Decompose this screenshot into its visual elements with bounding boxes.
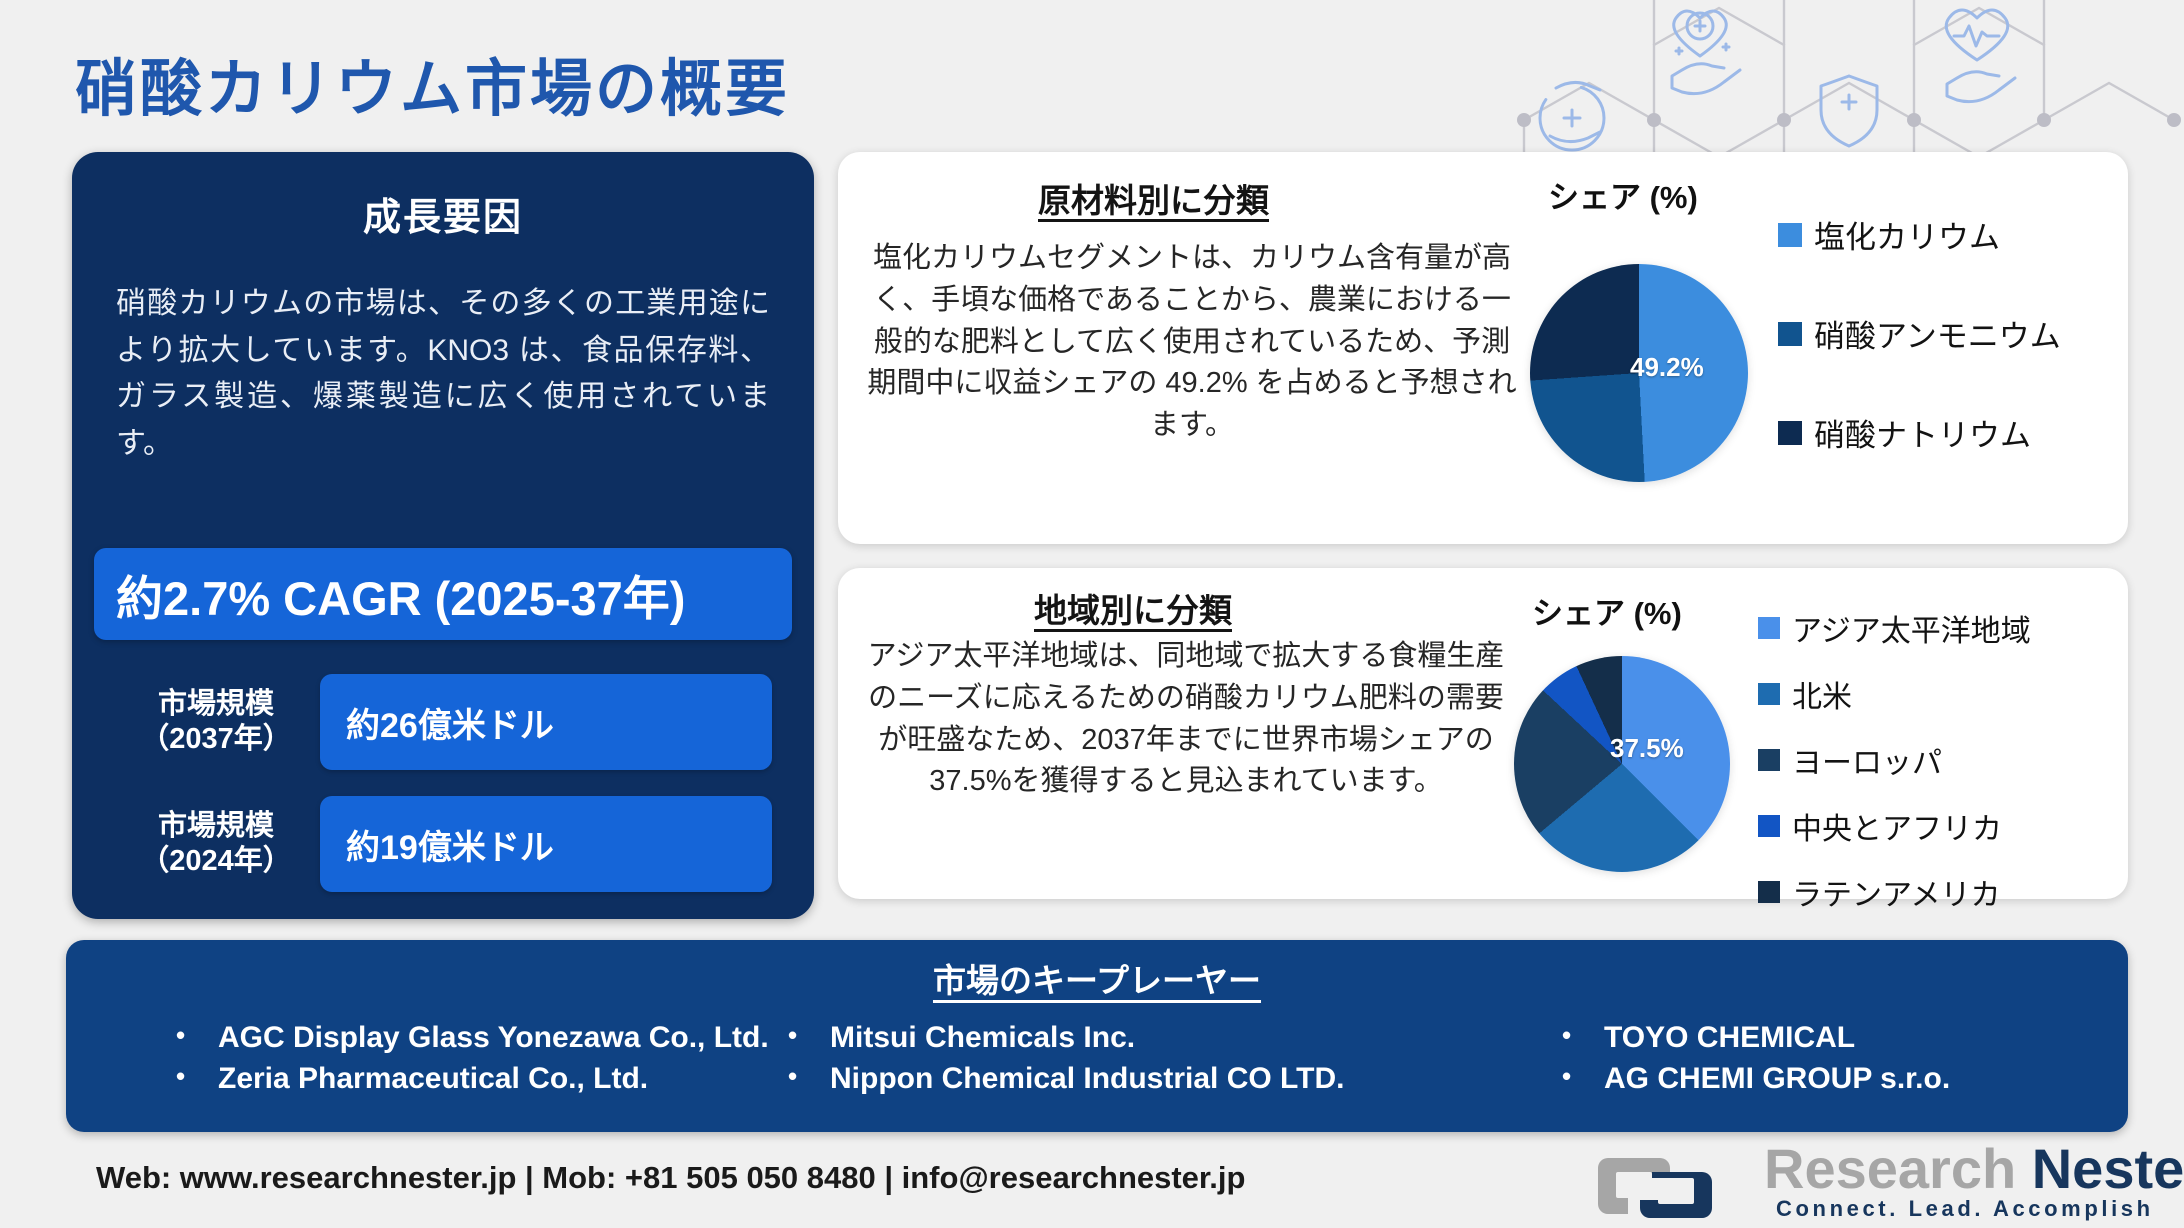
player-name: Zeria Pharmaceutical Co., Ltd. bbox=[218, 1061, 648, 1098]
list-item: • AGC Display Glass Yonezawa Co., Ltd. bbox=[176, 1020, 776, 1057]
segment-pie-data-label: 49.2% bbox=[1630, 352, 1704, 383]
list-item: • AG CHEMI GROUP s.r.o. bbox=[1562, 1061, 1966, 1098]
region-card-text: アジア太平洋地域は、同地域で拡大する食糧生産のニーズに応えるための硝酸カリウム肥… bbox=[860, 636, 1512, 803]
legend-item: 中央とアフリカ bbox=[1758, 804, 2031, 848]
player-name: Mitsui Chemicals Inc. bbox=[830, 1020, 1135, 1057]
legend-item: ラテンアメリカ bbox=[1758, 870, 2031, 914]
legend-item: 北米 bbox=[1758, 672, 2031, 716]
key-players-column: • Mitsui Chemicals Inc. • Nippon Chemica… bbox=[776, 1020, 1366, 1101]
legend-item: ヨーロッパ bbox=[1758, 738, 2031, 782]
legend-label: 硝酸アンモニウム bbox=[1814, 311, 2061, 356]
infographic-slide: 硝酸カリウム市場の概要 成長要因 硝酸カリウムの市場は、その多くの工業用途により… bbox=[0, 0, 2184, 1228]
market-size-row: 市場規模（2024年） 約19億米ドル bbox=[112, 796, 772, 892]
legend-label: 中央とアフリカ bbox=[1792, 804, 2002, 848]
legend-label: ヨーロッパ bbox=[1792, 738, 1942, 782]
footer-contact: Web: www.researchnester.jp | Mob: +81 50… bbox=[96, 1160, 1245, 1196]
growth-factors-text: 硝酸カリウムの市場は、その多くの工業用途により拡大しています。KNO3 は、食品… bbox=[116, 281, 770, 467]
segment-legend: 塩化カリウム 硝酸アンモニウム 硝酸ナトリウム bbox=[1778, 212, 2061, 455]
segment-card-heading: 原材料別に分類 bbox=[1038, 174, 1269, 222]
legend-label: ラテンアメリカ bbox=[1792, 870, 2001, 914]
logo-research-text: Research bbox=[1764, 1137, 2032, 1200]
player-name: TOYO CHEMICAL bbox=[1604, 1020, 1855, 1057]
bullet-icon: • bbox=[1562, 1061, 1604, 1098]
research-nester-logo: Research Nester Connect. Lead. Accomplis… bbox=[1596, 1140, 2116, 1220]
legend-swatch-icon bbox=[1758, 749, 1780, 771]
legend-swatch-icon bbox=[1778, 223, 1802, 247]
growth-factors-heading: 成長要因 bbox=[72, 186, 814, 241]
segment-card-text: 塩化カリウムセグメントは、カリウム含有量が高く、手頃な価格であることから、農業に… bbox=[862, 238, 1522, 447]
region-legend: アジア太平洋地域 北米 ヨーロッパ 中央とアフリカ ラテンアメリカ bbox=[1758, 606, 2031, 914]
logo-wordmark: Research Nester bbox=[1764, 1136, 2184, 1201]
bullet-icon: • bbox=[176, 1020, 218, 1057]
legend-swatch-icon bbox=[1778, 421, 1802, 445]
legend-item: 硝酸ナトリウム bbox=[1778, 410, 2061, 455]
legend-swatch-icon bbox=[1758, 683, 1780, 705]
shield-plus-icon bbox=[1821, 76, 1877, 146]
key-players-column: • AGC Display Glass Yonezawa Co., Ltd. •… bbox=[176, 1020, 776, 1101]
logo-mark-icon bbox=[1596, 1144, 1746, 1218]
market-size-value: 約19億米ドル bbox=[320, 796, 772, 892]
segment-share-title: シェア (%) bbox=[1548, 172, 1698, 217]
legend-label: 北米 bbox=[1792, 672, 1852, 716]
legend-label: 塩化カリウム bbox=[1814, 212, 2000, 257]
logo-nester-text: Nester bbox=[2032, 1137, 2184, 1200]
market-size-value: 約26億米ドル bbox=[320, 674, 772, 770]
list-item: • Mitsui Chemicals Inc. bbox=[788, 1020, 1366, 1057]
segment-by-raw-material-card: 原材料別に分類 塩化カリウムセグメントは、カリウム含有量が高く、手頃な価格である… bbox=[838, 152, 2128, 544]
key-players-column: • TOYO CHEMICAL • AG CHEMI GROUP s.r.o. bbox=[1366, 1020, 1966, 1101]
hand-plus-circle-icon bbox=[1540, 82, 1604, 150]
list-item: • Nippon Chemical Industrial CO LTD. bbox=[788, 1061, 1366, 1098]
bullet-icon: • bbox=[788, 1020, 830, 1057]
player-name: AGC Display Glass Yonezawa Co., Ltd. bbox=[218, 1020, 769, 1057]
legend-label: 硝酸ナトリウム bbox=[1814, 410, 2031, 455]
legend-swatch-icon bbox=[1758, 815, 1780, 837]
player-name: AG CHEMI GROUP s.r.o. bbox=[1604, 1061, 1950, 1098]
bullet-icon: • bbox=[788, 1061, 830, 1098]
cagr-value: 約2.7% CAGR (2025-37年) bbox=[94, 560, 685, 629]
key-players-heading: 市場のキープレーヤー bbox=[66, 940, 2128, 1002]
region-pie-chart bbox=[1514, 656, 1730, 872]
bullet-icon: • bbox=[176, 1061, 218, 1098]
legend-item: 硝酸アンモニウム bbox=[1778, 311, 2061, 356]
list-item: • TOYO CHEMICAL bbox=[1562, 1020, 1966, 1057]
market-size-row: 市場規模（2037年） 約26億米ドル bbox=[112, 674, 772, 770]
hexagon-medical-decoration bbox=[1494, 0, 2184, 160]
heart-plus-hand-icon bbox=[1672, 11, 1740, 94]
heartbeat-hand-icon bbox=[1946, 10, 2015, 102]
region-share-title: シェア (%) bbox=[1532, 588, 1682, 633]
legend-swatch-icon bbox=[1758, 617, 1780, 639]
region-card-heading: 地域別に分類 bbox=[1034, 584, 1232, 632]
legend-swatch-icon bbox=[1778, 322, 1802, 346]
market-size-label: 市場規模（2024年） bbox=[112, 809, 320, 880]
segment-by-region-card: 地域別に分類 アジア太平洋地域は、同地域で拡大する食糧生産のニーズに応えるための… bbox=[838, 568, 2128, 899]
legend-label: アジア太平洋地域 bbox=[1792, 606, 2031, 650]
player-name: Nippon Chemical Industrial CO LTD. bbox=[830, 1061, 1344, 1098]
page-title: 硝酸カリウム市場の概要 bbox=[75, 38, 790, 128]
growth-factors-panel: 成長要因 硝酸カリウムの市場は、その多くの工業用途により拡大しています。KNO3… bbox=[72, 152, 814, 919]
market-size-label: 市場規模（2037年） bbox=[112, 687, 320, 758]
region-pie-data-label: 37.5% bbox=[1610, 733, 1684, 764]
bullet-icon: • bbox=[1562, 1020, 1604, 1057]
cagr-badge: 約2.7% CAGR (2025-37年) bbox=[94, 548, 792, 640]
legend-item: 塩化カリウム bbox=[1778, 212, 2061, 257]
legend-item: アジア太平洋地域 bbox=[1758, 606, 2031, 650]
key-players-strip: 市場のキープレーヤー • AGC Display Glass Yonezawa … bbox=[66, 940, 2128, 1132]
logo-tagline: Connect. Lead. Accomplish bbox=[1776, 1196, 2154, 1222]
legend-swatch-icon bbox=[1758, 881, 1780, 903]
list-item: • Zeria Pharmaceutical Co., Ltd. bbox=[176, 1061, 776, 1098]
